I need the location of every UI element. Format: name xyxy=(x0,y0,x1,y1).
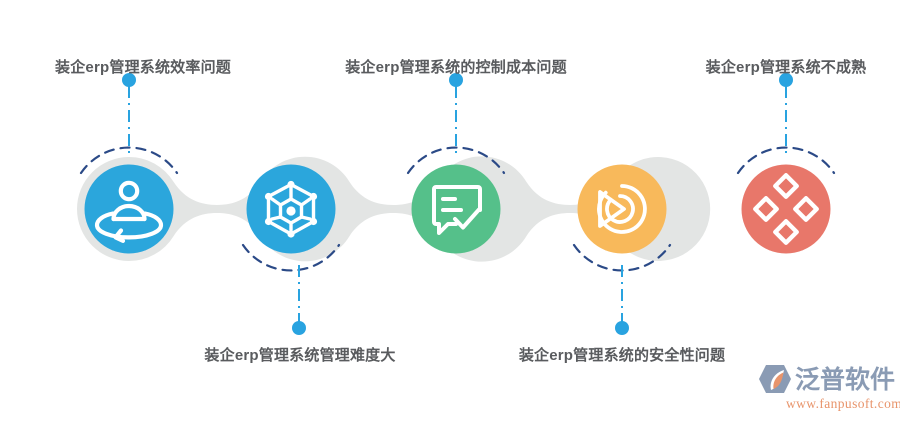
leader-dot-node-2 xyxy=(292,321,306,335)
label-node-3: 装企erp管理系统的控制成本问题 xyxy=(345,60,567,75)
logo-url: www.fanpusoft.com xyxy=(786,396,900,412)
label-node-1: 装企erp管理系统效率问题 xyxy=(55,60,231,75)
label-node-2: 装企erp管理系统管理难度大 xyxy=(204,348,395,363)
fanpu-logo-mark xyxy=(757,364,791,394)
logo-wordmark: 泛普软件 xyxy=(795,367,895,392)
infographic-canvas: 装企erp管理系统效率问题 装企erp管理系统的控制成本问题 装企erp管理系统… xyxy=(0,0,900,423)
node-1[interactable] xyxy=(85,165,174,254)
node-3[interactable] xyxy=(412,165,501,254)
leader-dot-node-4 xyxy=(615,321,629,335)
node-4[interactable] xyxy=(578,165,667,254)
node-1-circle xyxy=(85,165,174,254)
label-node-4: 装企erp管理系统的安全性问题 xyxy=(519,348,725,363)
node-5[interactable] xyxy=(742,165,831,254)
label-node-5: 装企erp管理系统不成熟 xyxy=(706,60,867,75)
brand-logo: 泛普软件 www.fanpusoft.com xyxy=(757,364,897,416)
node-2[interactable] xyxy=(247,165,336,254)
